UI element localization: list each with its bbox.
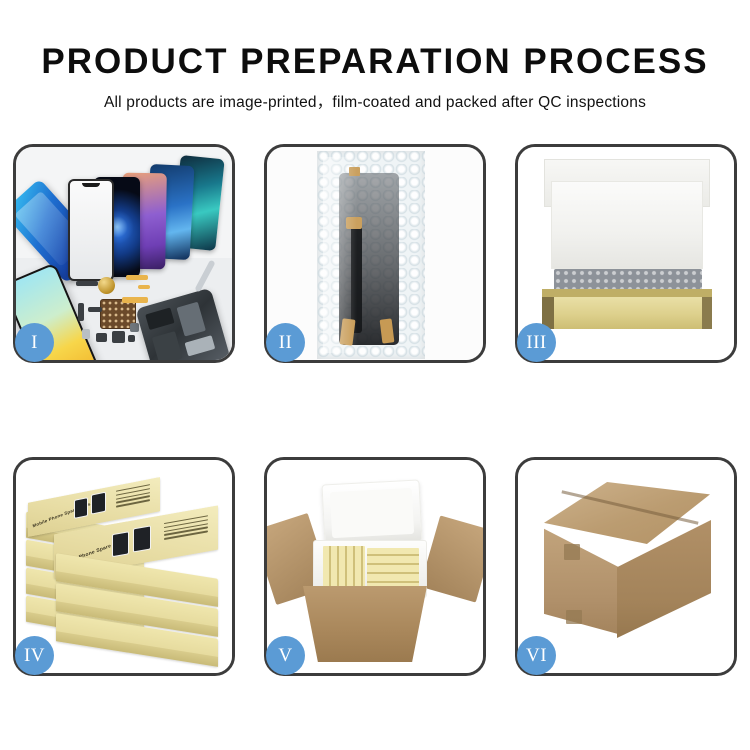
carton-tape-lower: [566, 610, 582, 624]
chassis-part-3: [152, 331, 183, 360]
part-d: [82, 329, 90, 339]
chassis-part-1: [145, 308, 174, 331]
part-a: [76, 281, 98, 286]
bubble-wrap-bag: [317, 151, 425, 359]
step-badge-6: VI: [517, 636, 556, 675]
foam-lid: [321, 479, 422, 546]
part-h: [128, 335, 135, 342]
notch: [82, 183, 100, 187]
box-art-thumb-2: [133, 525, 151, 552]
yellow-boxes-group-right: [367, 548, 419, 590]
plastic-glare: [323, 157, 357, 353]
box-flap-right: [702, 297, 712, 329]
carton-tape-upper: [564, 544, 580, 560]
page-title: PRODUCT PREPARATION PROCESS: [0, 0, 750, 82]
carton-flap-right: [420, 515, 483, 602]
step-badge-5: V: [266, 636, 305, 675]
step-panel-5: V: [264, 457, 486, 676]
box-front-panel: [542, 297, 712, 329]
step-badge-2: II: [266, 323, 305, 362]
box-art-thumb-1: [112, 531, 129, 557]
step-panel-4: Mobile Phone Spare Parts Mobile Phone Sp…: [13, 457, 235, 676]
step-badge-1: I: [15, 323, 54, 362]
part-f: [112, 331, 125, 343]
part-g: [130, 323, 139, 332]
part-b: [78, 303, 84, 321]
header: PRODUCT PREPARATION PROCESS All products…: [0, 0, 750, 112]
step-badge-4: IV: [15, 636, 54, 675]
part-c: [88, 307, 102, 312]
yellow-boxes-group-left: [323, 546, 365, 590]
flex-cable-c: [138, 285, 150, 289]
flex-cable-a: [126, 275, 148, 280]
infographic-page: PRODUCT PREPARATION PROCESS All products…: [0, 0, 750, 750]
step-panel-2: II: [264, 144, 486, 363]
foam-sheet: [551, 181, 703, 269]
step-panel-1: I: [13, 144, 235, 363]
part-e: [96, 333, 107, 342]
flex-cable-b: [122, 297, 148, 303]
step-panel-3: III: [515, 144, 737, 363]
phone-1: [68, 179, 114, 281]
box-art-thumb-2: [91, 492, 106, 515]
box-stack: Mobile Phone Spare Parts Mobile Phone Sp…: [22, 474, 226, 664]
step-panel-6: VI: [515, 457, 737, 676]
box-side: [56, 631, 218, 667]
step-badge-3: III: [517, 323, 556, 362]
chassis-part-2: [177, 302, 206, 337]
chassis-part-4: [185, 335, 216, 356]
carton-body: [303, 586, 427, 662]
tape-c: [380, 318, 395, 343]
process-step-grid: I II: [13, 144, 737, 696]
vibrator-motor-part: [98, 277, 115, 294]
box-art-thumb-1: [74, 497, 88, 519]
page-subtitle: All products are image-printed，film-coat…: [0, 82, 750, 112]
